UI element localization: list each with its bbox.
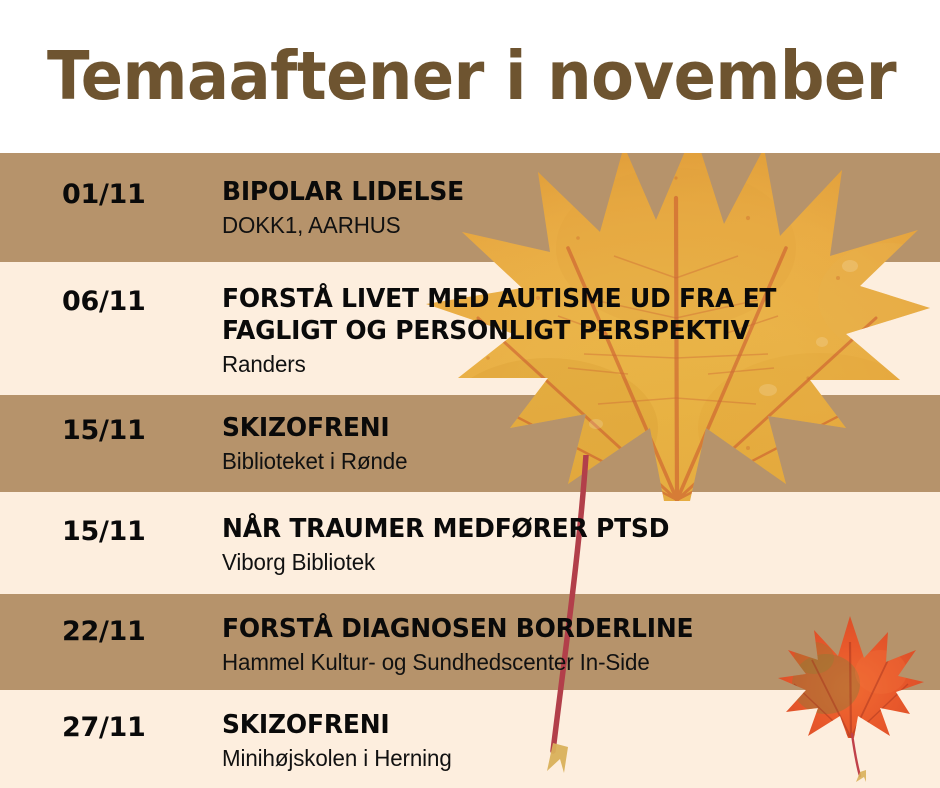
event-date: 15/11 bbox=[62, 415, 146, 446]
list-item[interactable]: 27/11 SKIZOFRENI Minihøjskolen i Herning bbox=[0, 690, 940, 788]
poster-canvas: Temaaftener i november 01/11 BIPOLAR LID… bbox=[0, 0, 940, 788]
event-date: 01/11 bbox=[62, 179, 146, 210]
event-date: 27/11 bbox=[62, 712, 146, 743]
event-venue: Viborg Bibliotek bbox=[222, 548, 918, 577]
list-item[interactable]: 06/11 FORSTÅ LIVET MED AUTISME UD FRA ET… bbox=[0, 262, 940, 395]
page-title: Temaaftener i november bbox=[47, 43, 896, 110]
event-title: FORSTÅ LIVET MED AUTISME UD FRA ET bbox=[222, 284, 911, 316]
list-item[interactable]: 15/11 SKIZOFRENI Biblioteket i Rønde bbox=[0, 395, 940, 492]
event-date: 06/11 bbox=[62, 286, 146, 317]
event-body: BIPOLAR LIDELSE DOKK1, AARHUS bbox=[222, 177, 940, 240]
event-title: NÅR TRAUMER MEDFØRER PTSD bbox=[222, 514, 911, 546]
event-body: SKIZOFRENI Minihøjskolen i Herning bbox=[222, 710, 940, 773]
event-title-line2: FAGLIGT OG PERSONLIGT PERSPEKTIV bbox=[222, 316, 911, 348]
list-item[interactable]: 01/11 BIPOLAR LIDELSE DOKK1, AARHUS bbox=[0, 153, 940, 262]
list-item[interactable]: 15/11 NÅR TRAUMER MEDFØRER PTSD Viborg B… bbox=[0, 492, 940, 594]
list-item[interactable]: 22/11 FORSTÅ DIAGNOSEN BORDERLINE Hammel… bbox=[0, 594, 940, 690]
event-venue: Biblioteket i Rønde bbox=[222, 447, 918, 476]
event-title: FORSTÅ DIAGNOSEN BORDERLINE bbox=[222, 614, 911, 646]
event-body: FORSTÅ LIVET MED AUTISME UD FRA ET FAGLI… bbox=[222, 284, 940, 379]
event-title: BIPOLAR LIDELSE bbox=[222, 177, 911, 209]
event-body: NÅR TRAUMER MEDFØRER PTSD Viborg Bibliot… bbox=[222, 514, 940, 577]
event-venue: DOKK1, AARHUS bbox=[222, 211, 918, 240]
event-body: SKIZOFRENI Biblioteket i Rønde bbox=[222, 413, 940, 476]
event-title: SKIZOFRENI bbox=[222, 710, 911, 742]
event-venue: Hammel Kultur- og Sundhedscenter In-Side bbox=[222, 648, 918, 677]
event-date: 15/11 bbox=[62, 516, 146, 547]
event-body: FORSTÅ DIAGNOSEN BORDERLINE Hammel Kultu… bbox=[222, 614, 940, 677]
event-date: 22/11 bbox=[62, 616, 146, 647]
title-bar: Temaaftener i november bbox=[0, 0, 940, 153]
event-venue: Randers bbox=[222, 350, 918, 379]
event-title: SKIZOFRENI bbox=[222, 413, 911, 445]
event-list: 01/11 BIPOLAR LIDELSE DOKK1, AARHUS 06/1… bbox=[0, 153, 940, 788]
event-venue: Minihøjskolen i Herning bbox=[222, 744, 918, 773]
